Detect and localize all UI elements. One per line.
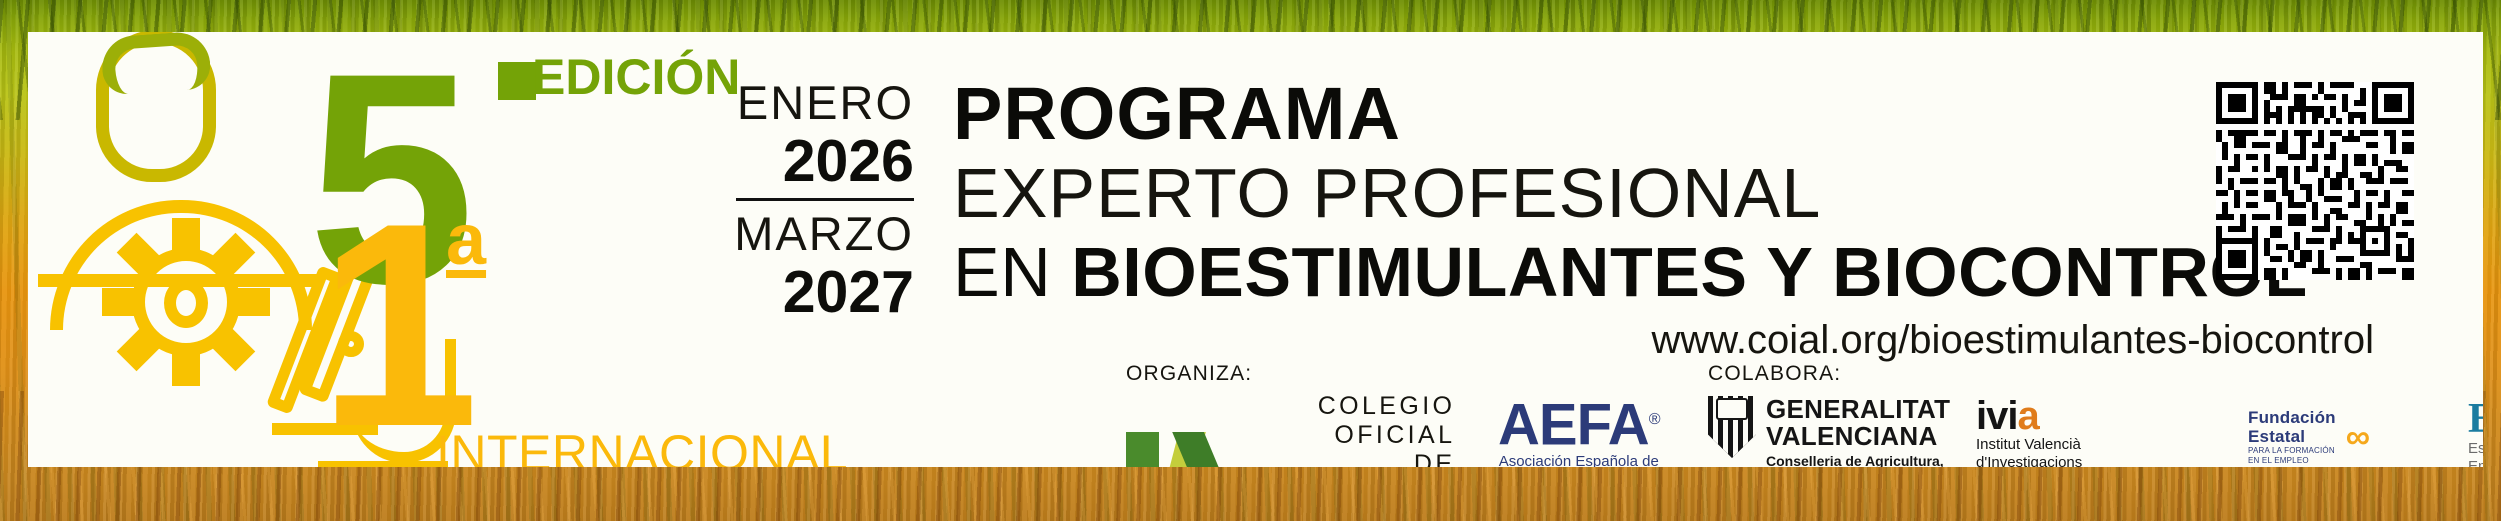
ordinal-suffix: a (446, 204, 486, 276)
coial-line-2: DE INGENIEROS (1236, 450, 1455, 467)
generalitat-wordmark: GENERALITAT VALENCIANA Conselleria de Ag… (1766, 396, 1950, 467)
aefa-logo[interactable]: AEFA® Asociación Española de Fabricantes… (1498, 392, 1659, 467)
ivia-sub-1: Institut Valencià (1976, 436, 2082, 454)
aefa-mark-text: AEFA (1498, 392, 1649, 457)
generalitat-sub-1: Conselleria de Agricultura, (1766, 453, 1950, 467)
gear-icon (106, 222, 266, 382)
fundacion-line-1: Fundación Estatal (2248, 408, 2336, 446)
date-divider (736, 198, 914, 201)
sponsors-area: ORGANIZA: COLEGIO OFICIAL DE INGENIEROS … (1126, 362, 2456, 464)
generalitat-line-1: GENERALITAT (1766, 396, 1950, 423)
page-title: PROGRAMA EXPERTO PROFESIONAL EN BIOESTIM… (953, 74, 2373, 312)
ivia-mark-a: a (2017, 394, 2038, 438)
edition-label: EDICIÓN (532, 52, 740, 102)
title-line-1: PROGRAMA (953, 74, 2373, 154)
fundacion-estatal-logo[interactable]: Fundación Estatal PARA LA FORMACIÓN EN E… (2248, 408, 2370, 466)
aefa-wordmark: AEFA® (1498, 392, 1659, 453)
fundacion-swirl-icon: ∞ (2346, 422, 2370, 452)
coial-line-1: COLEGIO OFICIAL (1236, 392, 1455, 450)
generalitat-line-2: VALENCIANA (1766, 423, 1950, 450)
generalitat-valenciana-logo[interactable]: GENERALITAT VALENCIANA Conselleria de Ag… (1708, 396, 1950, 467)
title-line-3-prefix: EN (953, 233, 1071, 311)
coial-logo[interactable]: COLEGIO OFICIAL DE INGENIEROS AGRÓNOMOS … (1126, 392, 1455, 467)
coial-mark-icon (1126, 432, 1222, 468)
fundacion-line-2: PARA LA FORMACIÓN EN EL EMPLEO (2248, 446, 2336, 466)
edem-sub: Escuela de Empresarios (2468, 440, 2483, 467)
end-year: 2027 (728, 261, 914, 323)
end-month: MARZO (728, 207, 914, 261)
start-month: ENERO (728, 76, 914, 130)
qr-code[interactable] (2216, 82, 2414, 280)
edition-swatch (498, 62, 536, 100)
aefa-sub-1: Asociación Española de (1498, 453, 1659, 467)
generalitat-shield-icon (1708, 396, 1756, 458)
edem-logo[interactable]: EDEM Escuela de Empresarios (2468, 398, 2483, 467)
fundacion-wordmark: Fundación Estatal PARA LA FORMACIÓN EN E… (2248, 408, 2336, 466)
website-url[interactable]: www.coial.org/bioestimulantes-biocontrol (1196, 318, 2374, 362)
aefa-registered-icon: ® (1649, 411, 1660, 428)
title-line-3: EN BIOESTIMULANTES Y BIOCONTROL (953, 232, 2373, 312)
title-line-3-strong: BIOESTIMULANTES Y BIOCONTROL (1071, 233, 2307, 311)
colabora-heading: COLABORA: (1708, 362, 1841, 386)
colabora-group: COLABORA: GENERALITAT VALENCIANA Consell… (1708, 362, 1841, 386)
coial-wordmark: COLEGIO OFICIAL DE INGENIEROS AGRÓNOMOS … (1236, 392, 1455, 467)
ivia-wordmark: ivia (1976, 396, 2082, 436)
organiza-heading: ORGANIZA: (1126, 362, 1252, 386)
event-banner: 5 EDICIÓN 1 a INTERNACIONAL ENERO 2026 M… (0, 0, 2501, 521)
organiza-group: ORGANIZA: COLEGIO OFICIAL DE INGENIEROS … (1126, 362, 1252, 386)
date-range: ENERO 2026 MARZO 2027 (728, 76, 914, 323)
start-year: 2026 (728, 130, 914, 192)
content-card: 5 EDICIÓN 1 a INTERNACIONAL ENERO 2026 M… (28, 32, 2483, 467)
ivia-mark-iv: ivi (1976, 394, 2017, 438)
international-label: INTERNACIONAL (436, 428, 848, 467)
ivia-logo[interactable]: ivia Institut Valencià d'Investigacions … (1976, 396, 2082, 467)
edem-wordmark: EDEM (2468, 398, 2483, 440)
title-line-2: EXPERTO PROFESIONAL (953, 154, 2373, 232)
ivia-sub-2: d'Investigacions Agràries (1976, 454, 2082, 467)
